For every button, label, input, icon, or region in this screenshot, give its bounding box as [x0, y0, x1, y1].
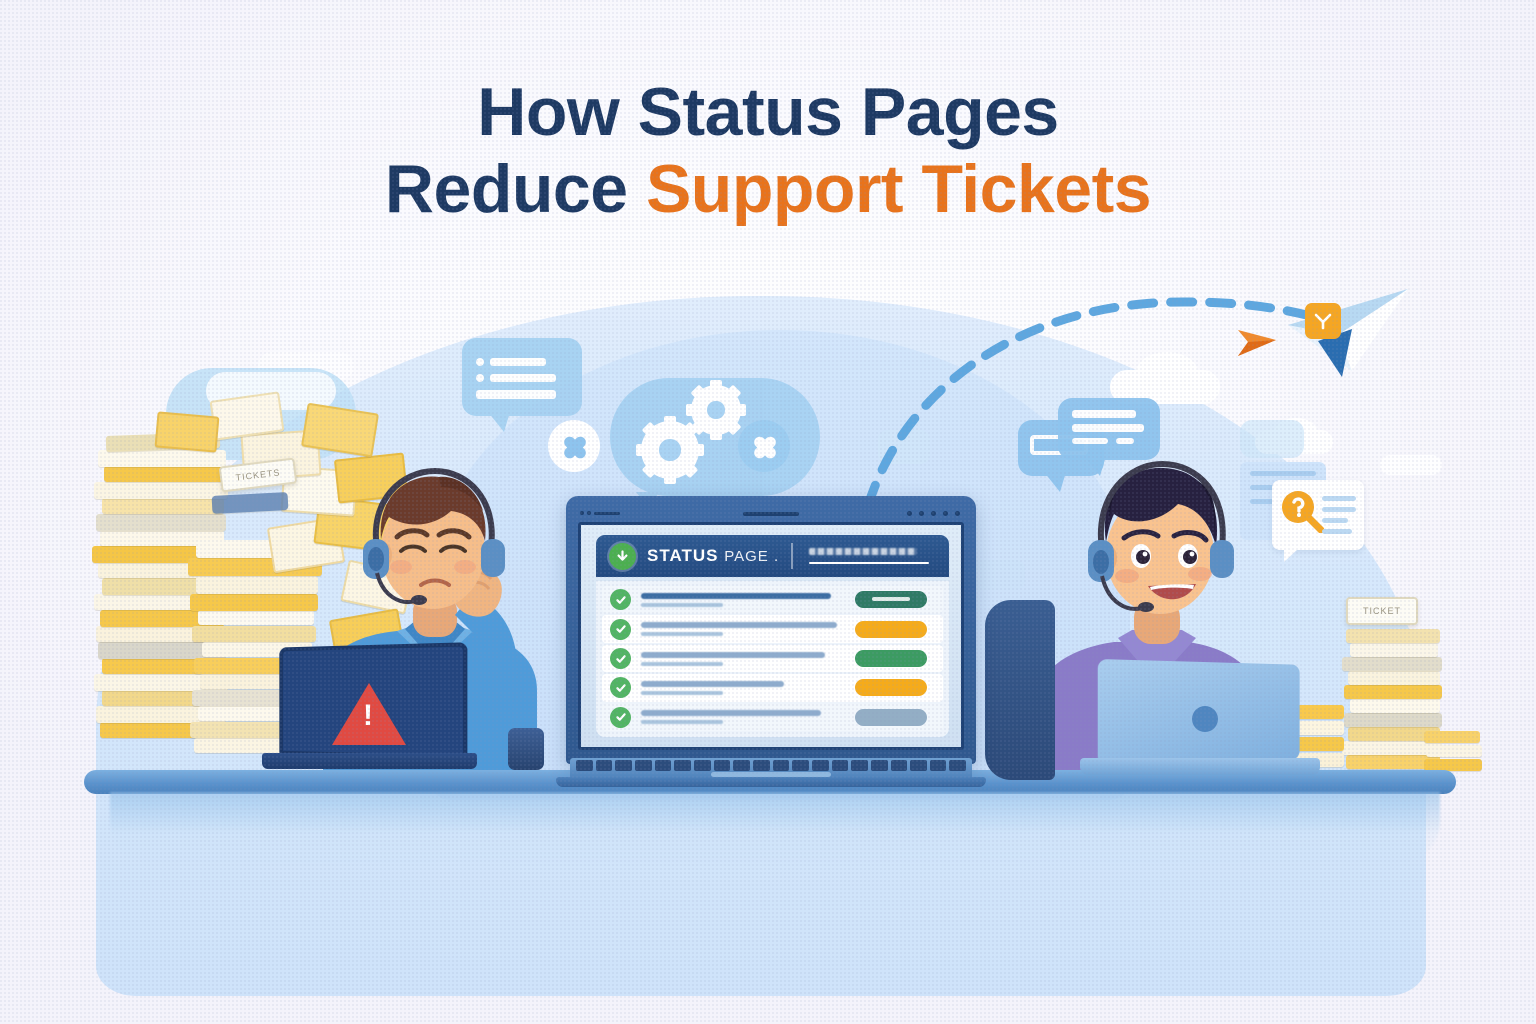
status-badge [855, 650, 927, 667]
meta-underline [809, 562, 929, 564]
status-page-title-bold: STATUS [647, 546, 718, 565]
table-row[interactable] [602, 704, 943, 731]
ticket-stack-right: TICKET [1340, 595, 1470, 777]
check-circle-icon [610, 619, 631, 640]
desk-reflection [110, 792, 1440, 862]
title-line-2: Reduce Support Tickets [0, 151, 1536, 228]
speech-bubble-icon [1058, 398, 1160, 460]
meta-blurred-text [809, 548, 917, 555]
center-laptop-base [556, 758, 986, 786]
status-badge [855, 591, 927, 608]
status-page-meta [809, 548, 949, 564]
table-row[interactable] [602, 586, 943, 613]
keyboard-keys [576, 760, 966, 771]
close-x-icon [752, 434, 778, 460]
status-page-title-light: PAGE . [724, 548, 779, 565]
illustration-canvas: TICKETS TICKET [0, 0, 1536, 1024]
paper-plane-icon [1282, 285, 1412, 395]
status-page-rows [596, 581, 949, 737]
check-circle-icon [610, 648, 631, 669]
center-laptop: STATUS PAGE . [556, 496, 986, 786]
warning-triangle-icon [332, 683, 406, 745]
send-badge-icon [1305, 303, 1341, 339]
table-row[interactable] [602, 645, 943, 672]
table-row[interactable] [602, 615, 943, 642]
status-page-screen: STATUS PAGE . [578, 522, 964, 750]
laptop-keyboard [570, 758, 972, 778]
title-line-2-prefix: Reduce [385, 151, 646, 227]
laptop-front-edge [556, 777, 986, 787]
status-page-header: STATUS PAGE . [596, 535, 949, 577]
table-row[interactable] [602, 674, 943, 701]
row-status-cell [847, 650, 935, 667]
status-badge [855, 679, 927, 696]
left-laptop [262, 645, 477, 780]
check-circle-icon [610, 677, 631, 698]
row-status-cell [847, 709, 935, 726]
gear-icon [648, 428, 692, 472]
status-badge [855, 709, 927, 726]
gear-icon [698, 392, 734, 428]
row-status-cell [847, 591, 935, 608]
row-text-placeholder [641, 681, 837, 695]
laptop-logo [1192, 706, 1218, 732]
status-page-title: STATUS PAGE . [647, 546, 779, 566]
status-badge [855, 621, 927, 638]
row-text-placeholder [641, 593, 837, 607]
laptop-bezel [576, 505, 966, 523]
right-laptop [1080, 662, 1320, 787]
right-laptop-base [1080, 758, 1320, 775]
bezel-left-marks [580, 511, 620, 515]
left-laptop-base [262, 753, 477, 769]
header-divider [791, 543, 793, 569]
row-status-cell [847, 621, 935, 638]
close-x-icon [562, 434, 588, 460]
webcam-bar [743, 512, 799, 516]
row-text-placeholder [641, 622, 837, 636]
download-arrow-icon [609, 543, 636, 570]
cloud-icon [1380, 455, 1442, 475]
ticket-label-tag: TICKET [1346, 597, 1418, 625]
page-title: How Status Pages Reduce Support Tickets [0, 74, 1536, 228]
check-circle-icon [610, 707, 631, 728]
title-line-1: How Status Pages [0, 74, 1536, 151]
office-chair [985, 600, 1055, 780]
row-status-cell [847, 679, 935, 696]
desk-device [508, 728, 544, 770]
title-line-2-highlight: Support Tickets [646, 151, 1151, 227]
row-text-placeholder [641, 652, 837, 666]
speech-bubble-icon [462, 338, 582, 416]
check-circle-icon [610, 589, 631, 610]
row-text-placeholder [641, 710, 837, 724]
bezel-right-dots [907, 511, 960, 516]
